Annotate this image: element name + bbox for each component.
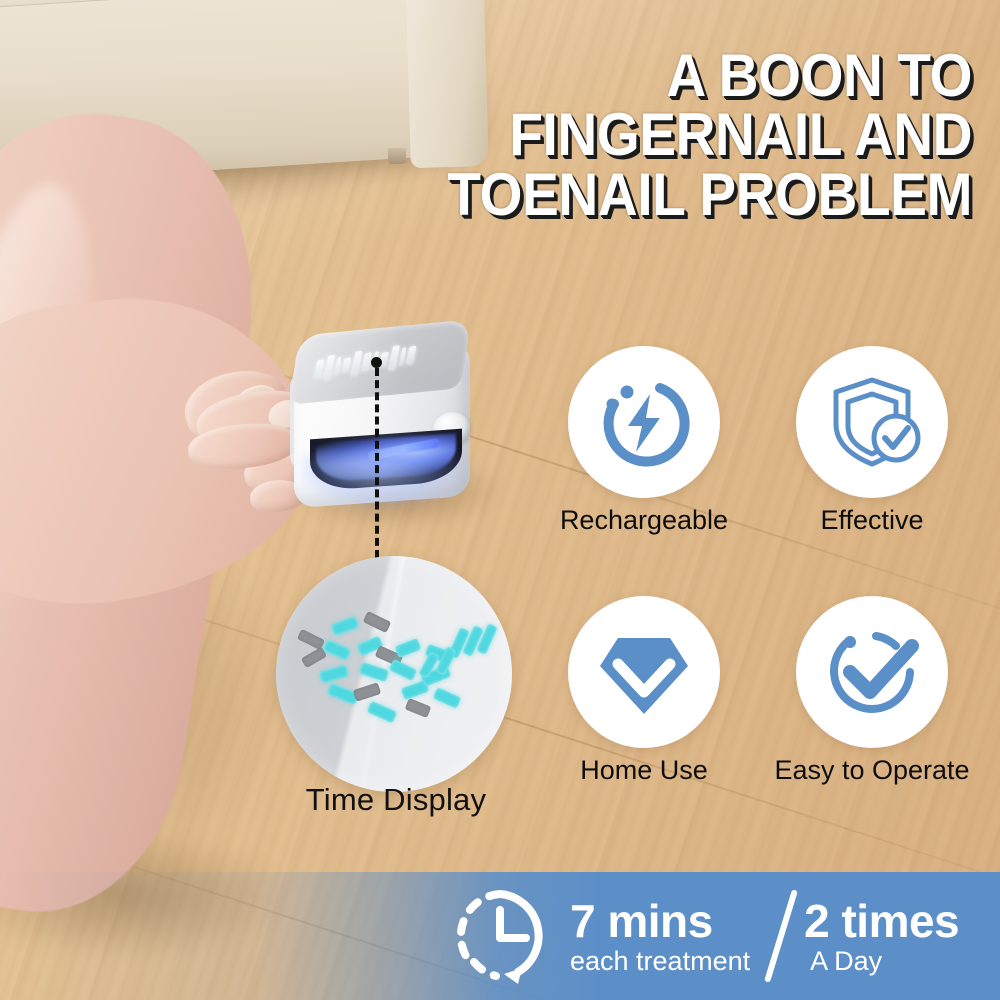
clock-arrow-icon (446, 882, 554, 990)
headline-line-1: A BOON TO (291, 46, 972, 105)
led-segment (395, 638, 422, 658)
product-banner-image: Time Display A BOON TO FINGERNAIL AND TO… (0, 0, 1000, 1000)
led-segment (331, 616, 360, 636)
diamond-chevron-down-icon (592, 620, 696, 724)
led-segment (323, 355, 335, 381)
check-circle-icon (820, 620, 924, 724)
usage-banner-content: 7 mins each treatment 2 times A Day (446, 872, 959, 1000)
led-segment (388, 345, 400, 371)
time-display-caption: Time Display (196, 782, 596, 818)
led-segment (323, 639, 352, 661)
treatment-frequency-stat: 2 times A Day (804, 898, 959, 975)
treatment-duration-stat: 7 mins each treatment (570, 898, 750, 975)
led-segment (353, 682, 381, 701)
nail-laser-device (288, 326, 480, 510)
led-segment (363, 611, 392, 633)
feature-easy-to-operate[interactable]: Easy to Operate (774, 596, 970, 786)
stat-separator (764, 889, 798, 983)
feature-rechargeable[interactable]: Rechargeable (546, 346, 742, 536)
feature-label: Effective (774, 506, 970, 536)
magnified-led-digits (276, 556, 512, 792)
callout-anchor-dot (371, 357, 382, 368)
feature-icon-circle (796, 596, 948, 748)
shield-check-icon (820, 370, 924, 474)
lightning-bolt-circle-icon (592, 370, 696, 474)
led-segment (350, 351, 362, 377)
led-segment (319, 664, 349, 683)
sofa-cushion-top (0, 0, 475, 11)
led-segment (406, 346, 417, 365)
usage-banner: 7 mins each treatment 2 times A Day (0, 872, 1000, 1000)
headline-line-3: TOENAIL PROBLEM (291, 165, 972, 224)
led-segment (405, 698, 432, 718)
headline-line-2: FINGERNAIL AND (291, 105, 972, 164)
feature-icon-circle (796, 346, 948, 498)
duration-value: 7 mins (570, 898, 750, 944)
feature-home-use[interactable]: Home Use (546, 596, 742, 786)
led-segment (367, 701, 397, 723)
duration-caption: each treatment (570, 948, 750, 975)
feature-icon-circle (568, 346, 720, 498)
time-display-magnifier (276, 556, 512, 792)
led-segment (334, 357, 342, 376)
callout-dashed-line (375, 368, 379, 558)
feature-label: Home Use (546, 756, 742, 786)
frequency-value: 2 times (804, 898, 959, 944)
feature-label: Rechargeable (546, 506, 742, 536)
page-title: A BOON TO FINGERNAIL AND TOENAIL PROBLEM (291, 46, 972, 224)
clock-icon-wrapper (446, 882, 554, 990)
led-segment (433, 687, 462, 709)
callout-leader-line (374, 362, 378, 558)
led-segment (389, 659, 418, 681)
frequency-caption: A Day (810, 948, 959, 975)
led-segment (359, 662, 389, 682)
feature-label: Easy to Operate (774, 756, 970, 786)
led-segment (341, 357, 351, 372)
feature-effective[interactable]: Effective (774, 346, 970, 536)
feature-icon-circle (568, 596, 720, 748)
uv-light-spill (302, 454, 470, 510)
